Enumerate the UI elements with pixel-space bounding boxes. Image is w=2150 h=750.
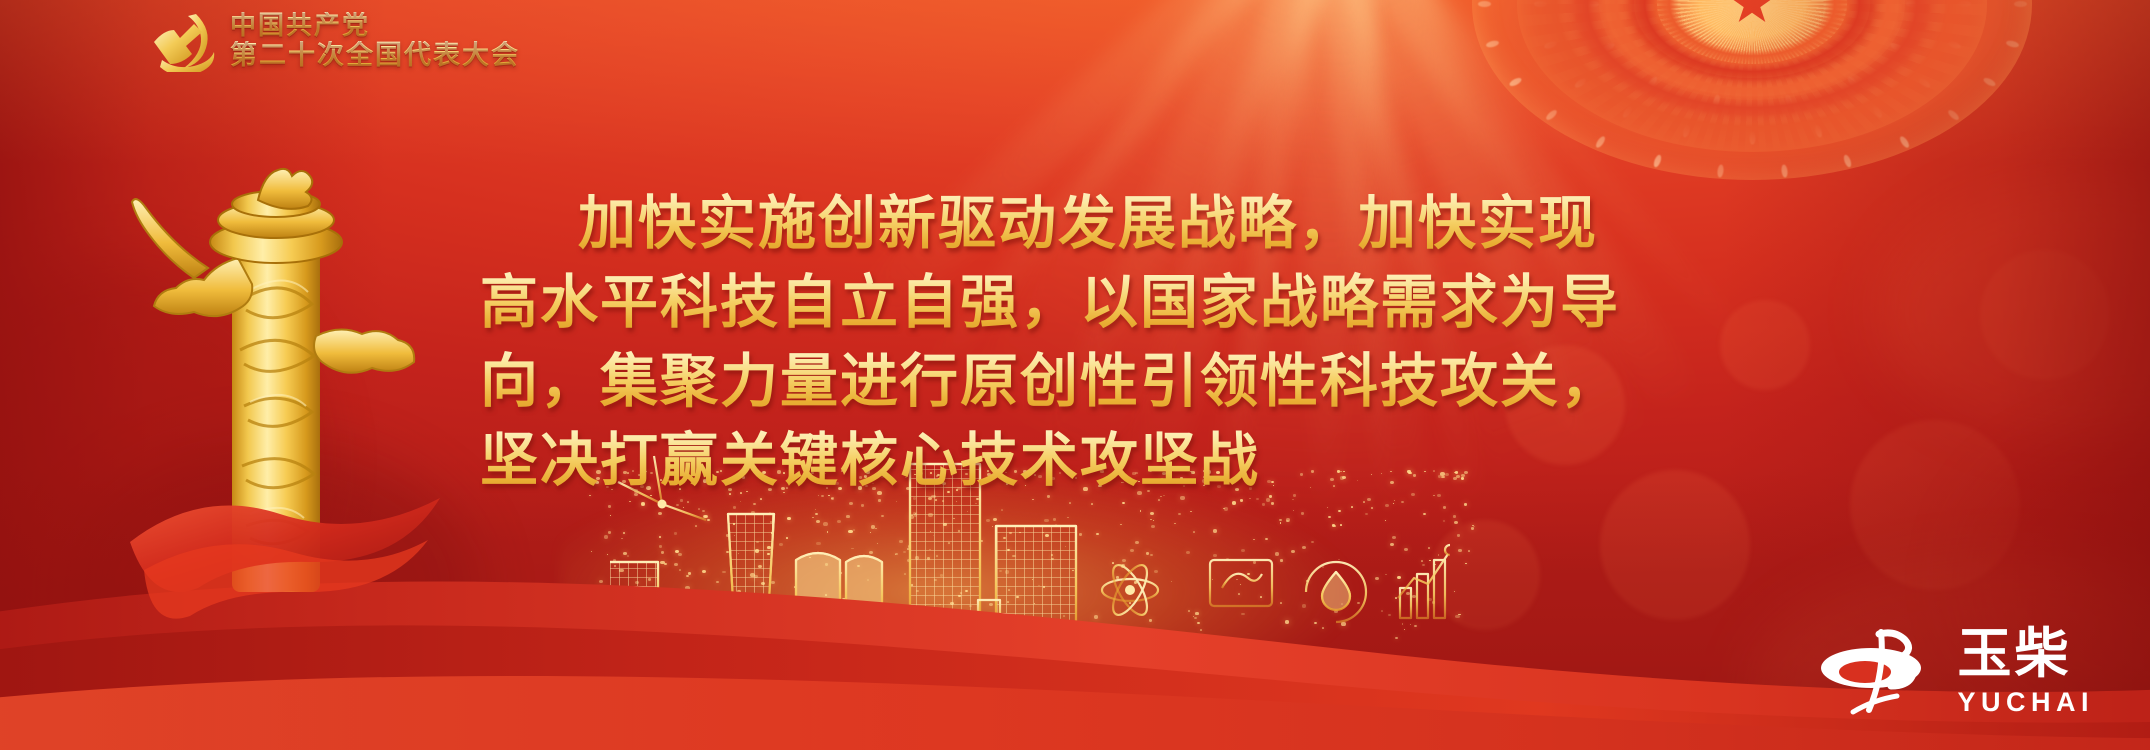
rosette-light-dot	[1622, 105, 1634, 119]
rosette-light-dot	[1781, 164, 1789, 178]
rosette-light-dot	[1508, 76, 1522, 87]
cpc-logo-line1: 中国共产党	[230, 12, 520, 40]
rosette-ring	[1517, 0, 1987, 152]
rosette-light-dot	[1750, 132, 1756, 145]
yuchai-name-cn: 玉柴	[1957, 627, 2094, 681]
rosette-ring	[1472, 0, 2032, 180]
rosette-scallop	[1657, 0, 1847, 64]
rosette-light-dot	[1813, 124, 1823, 138]
rosette-light-dot	[1646, 75, 1659, 89]
rosette-ring	[1634, 0, 1870, 78]
rosette-light-dot	[1485, 40, 1499, 49]
rosette-light-dot	[1601, 42, 1615, 53]
yuchai-ellipse-mark-icon	[1819, 626, 1939, 718]
yuchai-name-en: YUCHAI	[1957, 687, 2094, 718]
rosette-light-dot	[1906, 1, 1919, 7]
hammer-and-sickle-icon	[150, 10, 216, 72]
rosette-dot-ring	[1472, 0, 2032, 184]
rosette-scallop	[1634, 0, 1870, 78]
rosette-light-dot	[1846, 75, 1859, 89]
slogan-line-3: 向，集聚力量进行原创性引领性科技攻关，	[480, 343, 1720, 422]
banner-root: 中国共产党 第二十次全国代表大会 加快实施创新驱动发展战略，加快实现 高水平科技…	[0, 0, 2150, 750]
rosette-light-dot	[1545, 109, 1559, 122]
rosette-ring	[1599, 0, 1905, 100]
cpc-congress-logo: 中国共产党 第二十次全国代表大会	[150, 10, 520, 72]
rosette-light-dot	[1586, 1, 1599, 7]
silk-fold	[1880, 180, 2150, 440]
five-pointed-star-icon	[1729, 0, 1775, 26]
rosette-light-dot	[1478, 1, 1491, 7]
rosette-light-dot	[1946, 109, 1960, 122]
rosette-light-dot	[1871, 105, 1883, 119]
rosette-light-dot	[2014, 1, 2027, 7]
yuchai-brand-logo: 玉柴 YUCHAI	[1819, 626, 2094, 718]
rosette-scallop	[1559, 0, 1945, 125]
rosette-light-dot	[1958, 1, 1971, 7]
rosette-scallop	[1599, 0, 1905, 100]
rosette-light-dot	[1899, 135, 1911, 149]
cpc-logo-line2: 第二十次全国代表大会	[230, 41, 520, 70]
rosette-light-dot	[1534, 1, 1547, 7]
rosette-light-dot	[1716, 164, 1724, 178]
rosette-light-dot	[1713, 94, 1722, 108]
rosette-light-dot	[1842, 154, 1852, 168]
star-burst-glow	[1657, 0, 1847, 64]
rosette-light-dot	[1574, 77, 1588, 89]
rosette-light-dot	[1544, 41, 1558, 51]
bokeh-circle	[1980, 250, 2110, 380]
rosette-scallop	[1517, 0, 1987, 152]
rosette-light-dot	[1889, 42, 1903, 53]
huabiao-column-decoration	[100, 150, 450, 620]
rosette-light-dot	[1682, 124, 1692, 138]
rosette-light-dot	[2006, 40, 2020, 49]
ceiling-rosette-decoration	[1472, 0, 2032, 184]
slogan-line-2: 高水平科技自立自强，以国家战略需求为导	[480, 264, 1720, 343]
rosette-light-dot	[1947, 41, 1961, 51]
rosette-light-dot	[1594, 135, 1606, 149]
rosette-ring	[1559, 0, 1945, 125]
rosette-light-dot	[1917, 77, 1931, 89]
rosette-light-dot	[1652, 154, 1662, 168]
rosette-light-dot	[1784, 94, 1793, 108]
slogan-line-1: 加快实施创新驱动发展战略，加快实现	[480, 185, 1720, 264]
bokeh-circle	[1720, 300, 1810, 390]
rosette-ring	[1657, 0, 1847, 64]
slogan-block: 加快实施创新驱动发展战略，加快实现 高水平科技自立自强，以国家战略需求为导 向，…	[480, 185, 1720, 501]
slogan-line-4: 坚决打赢关键核心技术攻坚战	[480, 422, 1720, 501]
rosette-scallop	[1472, 0, 2032, 180]
rosette-light-dot	[1983, 76, 1997, 87]
